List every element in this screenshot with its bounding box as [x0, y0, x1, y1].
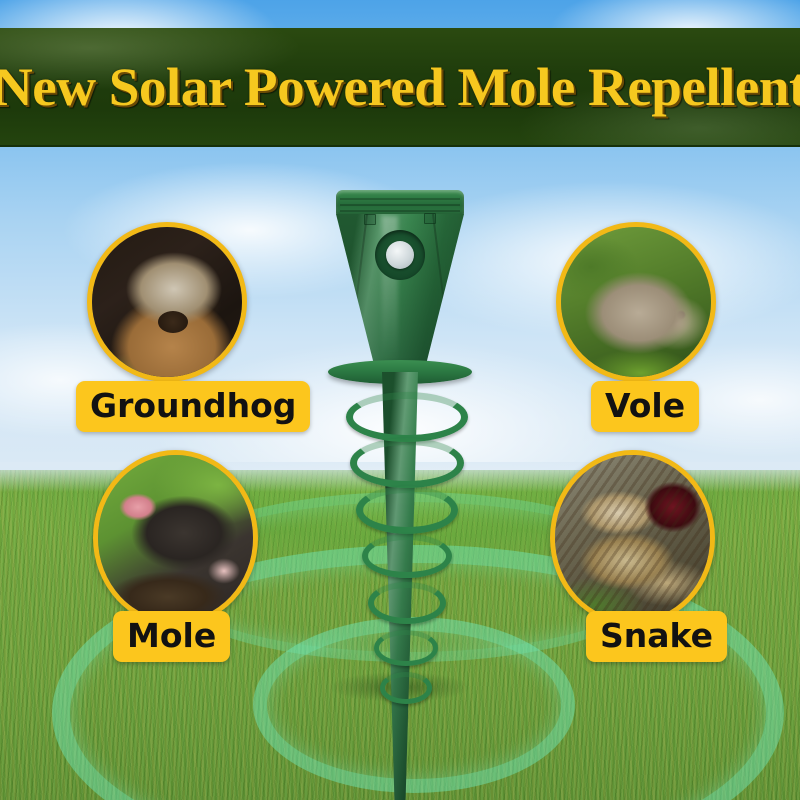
snake-photo: [555, 455, 710, 621]
snake-photo-circle: [550, 450, 715, 626]
auger-flight: [356, 486, 458, 534]
solar-panel-cap: [336, 190, 464, 216]
auger-flight: [346, 392, 468, 442]
pest-label-mole: Mole: [113, 611, 230, 662]
groundhog-photo: [92, 227, 242, 377]
pest-label-groundhog: Groundhog: [76, 381, 310, 432]
auger-flight: [368, 582, 446, 624]
banner-title-text: New Solar Powered Mole Repellent: [0, 56, 800, 118]
pest-label-vole: Vole: [591, 381, 699, 432]
auger-flight: [362, 534, 452, 578]
product-marketing-image: New Solar Powered Mole Repellent Groun: [0, 0, 800, 800]
pest-label-snake: Snake: [586, 611, 727, 662]
title-banner: New Solar Powered Mole Repellent: [0, 28, 800, 147]
vole-photo: [561, 227, 711, 377]
auger-flight: [380, 672, 432, 704]
embossed-mark-right-icon: [424, 213, 436, 224]
mole-photo-circle: [93, 450, 258, 626]
embossed-mark-left-icon: [364, 214, 376, 225]
vole-photo-circle: [556, 222, 716, 382]
auger-flight: [350, 438, 464, 488]
groundhog-photo-circle: [87, 222, 247, 382]
indicator-light: [375, 230, 425, 280]
auger-flight: [374, 630, 438, 666]
solar-mole-repellent-device: [320, 190, 480, 690]
mole-photo: [98, 455, 253, 621]
